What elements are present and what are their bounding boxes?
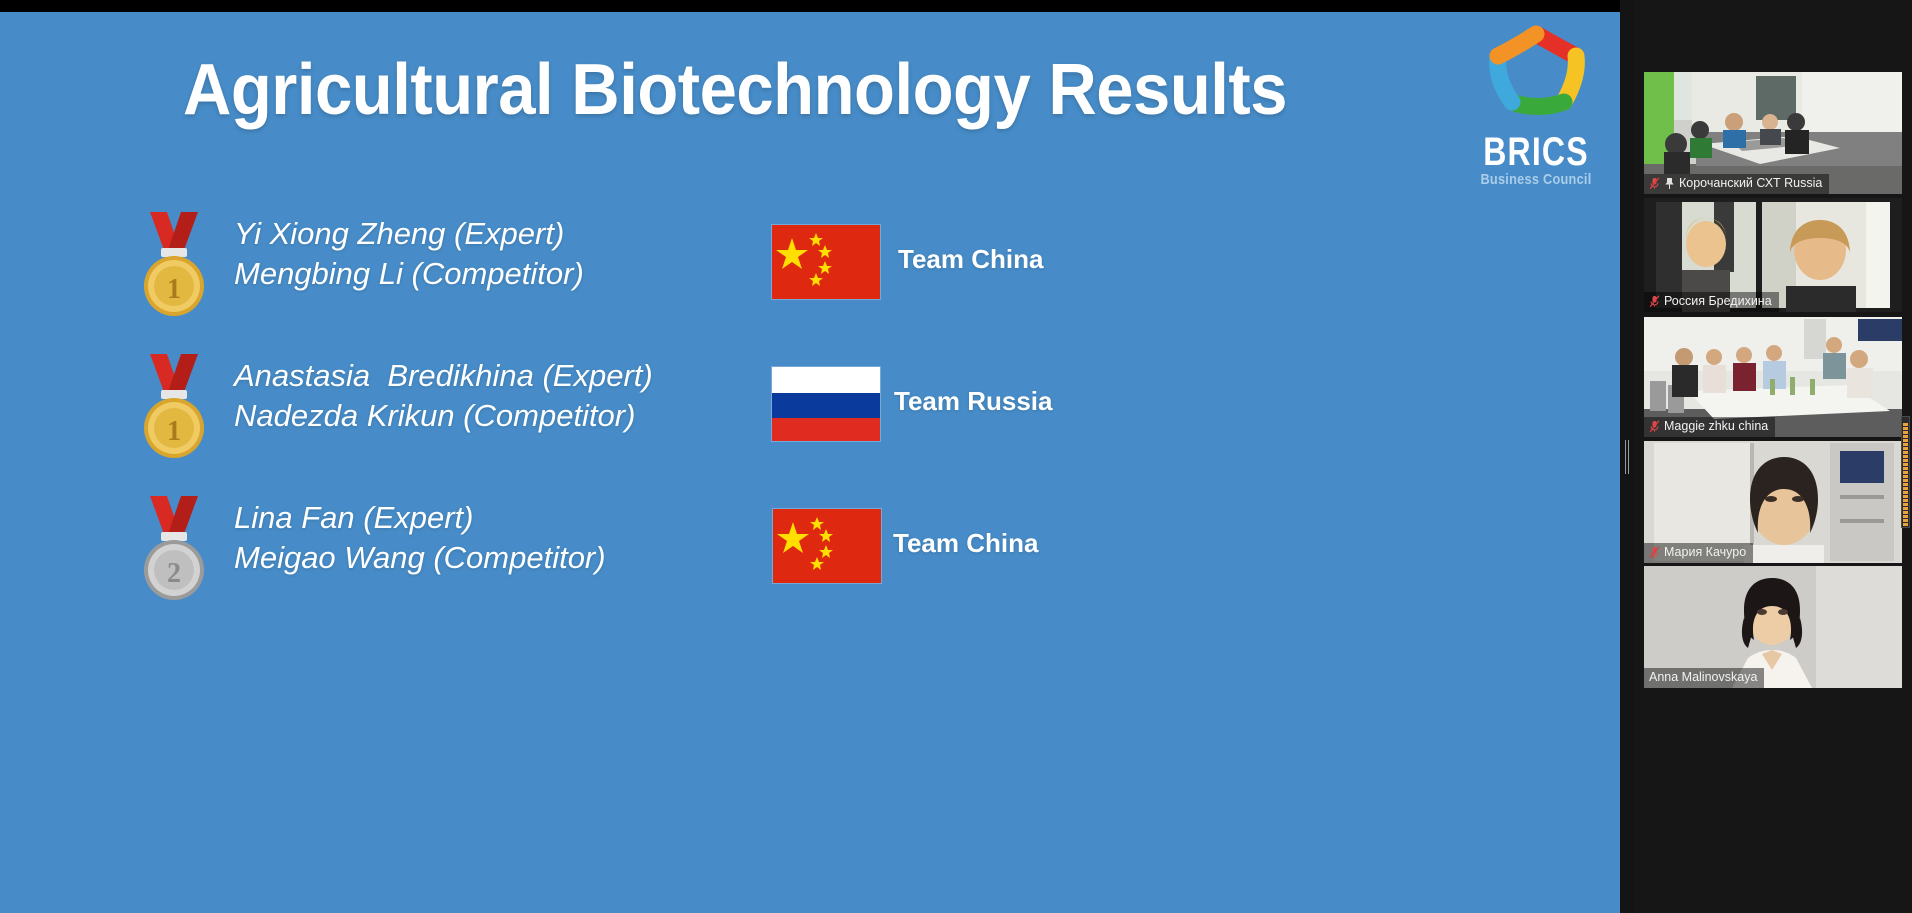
- result-row: 1 Yi Xiong Zheng (Expert)Mengbing Li (Co…: [0, 202, 1470, 344]
- participant-name: Россия Бредихина: [1664, 294, 1772, 309]
- participant-name: Anna Malinovskaya: [1649, 670, 1757, 685]
- participant-tile[interactable]: Корочанский СХТ Russia: [1644, 72, 1902, 194]
- audio-level-meter: [1901, 416, 1910, 528]
- brics-logo: BRICS Business Council: [1470, 20, 1602, 200]
- participant-tile[interactable]: Anna Malinovskaya: [1644, 566, 1902, 688]
- team-label: Team China: [893, 528, 1038, 559]
- participant-name: Корочанский СХТ Russia: [1679, 176, 1822, 191]
- brics-wordmark: BRICS: [1483, 132, 1589, 172]
- participant-name-badge: Мария Качуро: [1644, 543, 1753, 563]
- participant-name-badge: Maggie zhku china: [1644, 417, 1775, 437]
- participant-video-panel: Корочанский СХТ Russia: [1634, 0, 1912, 913]
- drag-handle-icon[interactable]: [1624, 440, 1630, 474]
- participant-name: Мария Качуро: [1664, 545, 1746, 560]
- silver-medal-icon: 2: [140, 494, 208, 602]
- participant-tile[interactable]: Мария Качуро: [1644, 441, 1902, 563]
- mic-muted-icon: [1649, 546, 1660, 559]
- results-list: 1 Yi Xiong Zheng (Expert)Mengbing Li (Co…: [0, 202, 1470, 628]
- gold-medal-icon: 1: [140, 352, 208, 460]
- participant-tile[interactable]: Maggie zhku china: [1644, 317, 1902, 437]
- participant-name-badge: Корочанский СХТ Russia: [1644, 174, 1829, 194]
- svg-text:2: 2: [167, 558, 181, 589]
- mic-muted-icon: [1649, 420, 1660, 433]
- result-row: 2 Lina Fan (Expert)Meigao Wang (Competit…: [0, 486, 1470, 628]
- brics-star-icon: [1480, 20, 1592, 132]
- gold-medal-icon: 1: [140, 210, 208, 318]
- result-names: Yi Xiong Zheng (Expert)Mengbing Li (Comp…: [234, 214, 584, 294]
- pin-icon: [1664, 177, 1675, 190]
- team-label: Team China: [898, 244, 1043, 275]
- flag-china: [772, 508, 882, 584]
- flag-china: [771, 224, 881, 300]
- flag-russia: [771, 366, 881, 442]
- svg-text:1: 1: [167, 274, 181, 305]
- mic-muted-icon: [1649, 177, 1660, 190]
- result-names: Lina Fan (Expert)Meigao Wang (Competitor…: [234, 498, 606, 578]
- brics-tagline: Business Council: [1480, 172, 1592, 187]
- meeting-window: Agricultural Biotechnology Results BRICS…: [0, 0, 1912, 913]
- panel-divider[interactable]: [1620, 0, 1634, 913]
- page-title: Agricultural Biotechnology Results: [51, 54, 1418, 126]
- participant-tile[interactable]: Россия Бредихина: [1644, 198, 1902, 312]
- shared-screen-slide[interactable]: Agricultural Biotechnology Results BRICS…: [0, 12, 1620, 913]
- result-row: 1 Anastasia Bredikhina (Expert)Nadezda K…: [0, 344, 1470, 486]
- result-names: Anastasia Bredikhina (Expert)Nadezda Kri…: [234, 356, 653, 436]
- team-label: Team Russia: [894, 386, 1052, 417]
- participant-name-badge: Anna Malinovskaya: [1644, 668, 1764, 688]
- participant-name-badge: Россия Бредихина: [1644, 292, 1779, 312]
- svg-text:1: 1: [167, 416, 181, 447]
- participant-name: Maggie zhku china: [1664, 419, 1768, 434]
- mic-muted-icon: [1649, 295, 1660, 308]
